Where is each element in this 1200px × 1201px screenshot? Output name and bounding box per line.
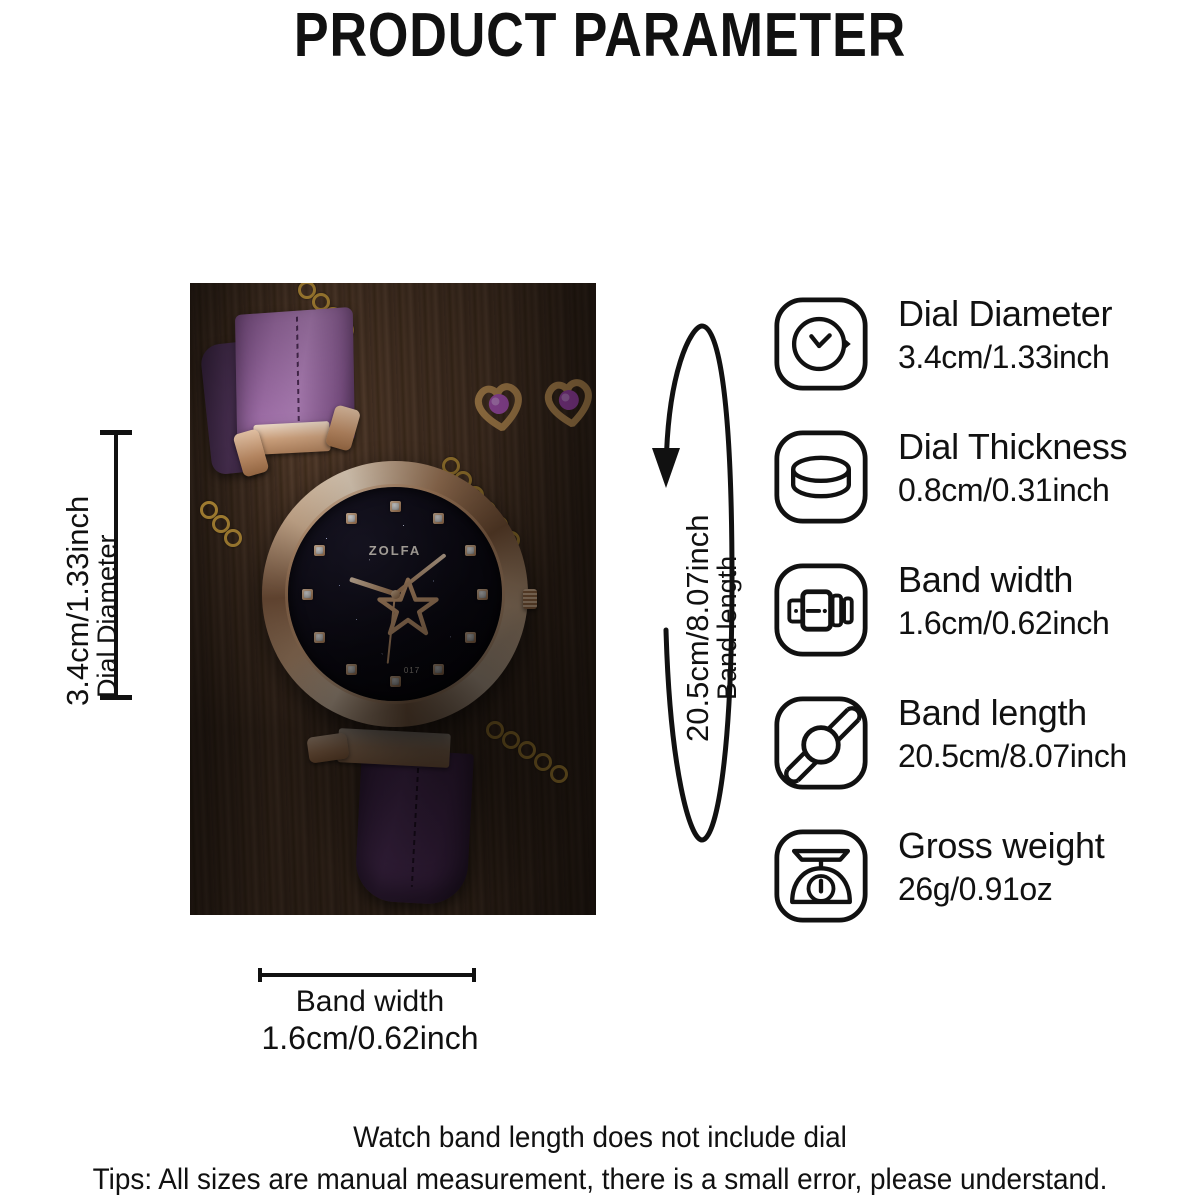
spec-value: 20.5cm/8.07inch	[898, 735, 1173, 777]
spec-text: Band length 20.5cm/8.07inch	[898, 691, 1173, 777]
dial-diameter-label: Dial Diameter	[92, 534, 123, 698]
dimension-cap-left	[258, 968, 262, 982]
watch-dial-icon	[773, 296, 869, 392]
dimension-line-horizontal	[258, 968, 476, 982]
spec-value: 3.4cm/1.33inch	[898, 336, 1173, 378]
spec-label: Dial Thickness	[898, 425, 1173, 469]
photo-vignette	[190, 283, 596, 915]
spec-row-gross-weight: Gross weight 26g/0.91oz	[773, 828, 1173, 961]
spec-value: 26g/0.91oz	[898, 868, 1173, 910]
band-width-value: 1.6cm/0.62inch	[190, 1020, 550, 1056]
spec-row-band-length: Band length 20.5cm/8.07inch	[773, 695, 1173, 828]
dial-diameter-value: 3.4cm/1.33inch	[60, 496, 96, 706]
dimension-cap-top	[100, 430, 132, 435]
spec-value: 1.6cm/0.62inch	[898, 602, 1173, 644]
footer-notes: Watch band length does not include dial …	[0, 1117, 1200, 1201]
kitchen-scale-icon	[773, 828, 869, 924]
spec-row-dial-thickness: Dial Thickness 0.8cm/0.31inch	[773, 429, 1173, 562]
spec-list: Dial Diameter 3.4cm/1.33inch Dial Thickn…	[773, 296, 1173, 961]
band-length-value: 20.5cm/8.07inch	[680, 515, 716, 742]
watch-band-icon	[773, 695, 869, 791]
spec-text: Dial Diameter 3.4cm/1.33inch	[898, 292, 1173, 378]
spec-label: Gross weight	[898, 824, 1173, 868]
spec-label: Band width	[898, 558, 1173, 602]
band-buckle-icon	[773, 562, 869, 658]
spec-row-band-width: Band width 1.6cm/0.62inch	[773, 562, 1173, 695]
dimension-cap-right	[472, 968, 476, 982]
footer-line-2: Tips: All sizes are manual measurement, …	[42, 1159, 1158, 1201]
spec-label: Band length	[898, 691, 1173, 735]
spec-text: Gross weight 26g/0.91oz	[898, 824, 1173, 910]
dimension-bar	[258, 973, 476, 977]
band-width-label: Band width	[190, 984, 550, 1020]
page-title: PRODUCT PARAMETER	[96, 2, 1104, 70]
spec-row-dial-diameter: Dial Diameter 3.4cm/1.33inch	[773, 296, 1173, 429]
spec-value: 0.8cm/0.31inch	[898, 469, 1173, 511]
spec-label: Dial Diameter	[898, 292, 1173, 336]
band-length-label: Band length	[712, 556, 743, 700]
dial-thickness-icon	[773, 429, 869, 525]
footer-line-1: Watch band length does not include dial	[42, 1117, 1158, 1159]
spec-text: Band width 1.6cm/0.62inch	[898, 558, 1173, 644]
product-photo: ZOLFA 017	[190, 283, 596, 915]
spec-text: Dial Thickness 0.8cm/0.31inch	[898, 425, 1173, 511]
